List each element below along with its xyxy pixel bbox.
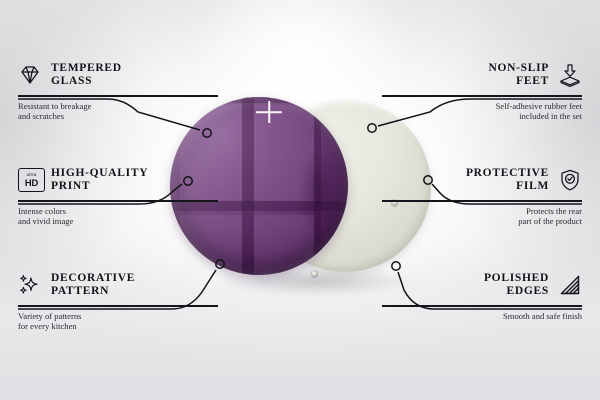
ultra-hd-badge-large-text: HD [25, 178, 38, 187]
callout-subtitle: Variety of patterns for every kitchen [18, 311, 218, 332]
leader-dot-feet [368, 124, 376, 132]
callout-header: TEMPEREDGLASS [18, 58, 218, 92]
callout-subtitle: Protects the rear part of the product [382, 206, 582, 227]
infographic-canvas: TEMPEREDGLASS Resistant to breakage and … [0, 0, 600, 400]
callout-high-quality-print[interactable]: ultra HD HIGH-QUALITYPRINT Intense color… [18, 163, 218, 227]
callout-title: PROTECTIVEFILM [466, 167, 549, 194]
callout-title: TEMPEREDGLASS [51, 62, 122, 89]
callout-polished-edges[interactable]: POLISHEDEDGES Smooth and safe finish [382, 268, 582, 321]
callout-title: POLISHEDEDGES [484, 272, 549, 299]
callout-tempered-glass[interactable]: TEMPEREDGLASS Resistant to breakage and … [18, 58, 218, 122]
polished-edge-icon [558, 273, 582, 297]
shield-check-icon [558, 168, 582, 192]
callout-divider [18, 305, 218, 307]
callout-protective-film[interactable]: PROTECTIVEFILM Protects the rear part of… [382, 163, 582, 227]
callout-title: HIGH-QUALITYPRINT [51, 167, 148, 194]
callout-header: PROTECTIVEFILM [382, 163, 582, 197]
callout-subtitle: Resistant to breakage and scratches [18, 101, 218, 122]
callout-divider [382, 305, 582, 307]
non-slip-foot-icon [558, 63, 582, 87]
sparkles-icon [18, 273, 42, 297]
callout-header: POLISHEDEDGES [382, 268, 582, 302]
callout-title: NON-SLIPFEET [488, 62, 549, 89]
callout-subtitle: Intense colors and vivid image [18, 206, 218, 227]
leader-dot-decorative [216, 260, 224, 268]
callout-header: DECORATIVEPATTERN [18, 268, 218, 302]
callout-non-slip-feet[interactable]: NON-SLIPFEET Self-adhesive rubber feet i… [382, 58, 582, 122]
callout-decorative-pattern[interactable]: DECORATIVEPATTERN Variety of patterns fo… [18, 268, 218, 332]
callout-header: ultra HD HIGH-QUALITYPRINT [18, 163, 218, 197]
callout-divider [382, 200, 582, 202]
callout-divider [18, 200, 218, 202]
ultra-hd-icon: ultra HD [18, 168, 42, 192]
callout-divider [382, 95, 582, 97]
leader-dot-tempered [203, 129, 211, 137]
callout-subtitle: Self-adhesive rubber feet included in th… [382, 101, 582, 122]
callout-divider [18, 95, 218, 97]
callout-title: DECORATIVEPATTERN [51, 272, 135, 299]
callout-header: NON-SLIPFEET [382, 58, 582, 92]
diamond-icon [18, 63, 42, 87]
callout-subtitle: Smooth and safe finish [382, 311, 582, 322]
